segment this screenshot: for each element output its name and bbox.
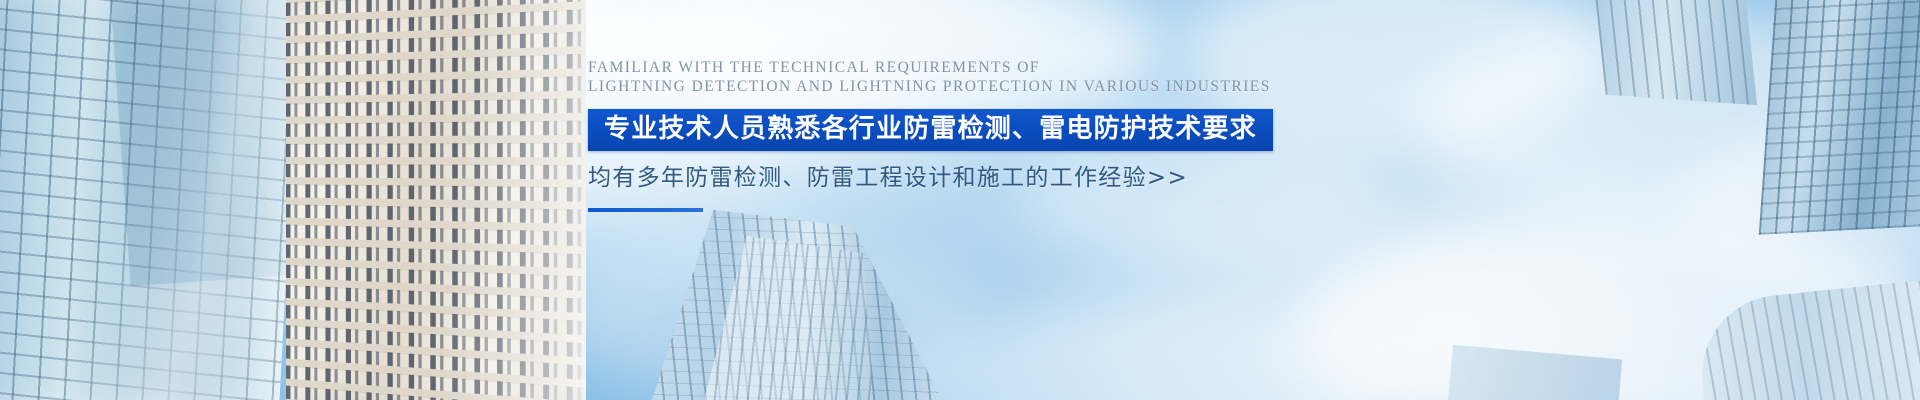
subtitle-text[interactable]: 均有多年防雷检测、防雷工程设计和施工的工作经验>> <box>588 164 1288 192</box>
headline-ribbon: 专业技术人员熟悉各行业防雷检测、雷电防护技术要求 <box>588 109 1273 151</box>
accent-underline <box>588 208 703 212</box>
hero-banner: FAMILIAR WITH THE TECHNICAL REQUIREMENTS… <box>0 0 1920 400</box>
english-tagline-line-2: LIGHTNING DETECTION AND LIGHTNING PROTEC… <box>588 77 1288 96</box>
english-tagline-line-1: FAMILIAR WITH THE TECHNICAL REQUIREMENTS… <box>588 58 1288 77</box>
banner-content: FAMILIAR WITH THE TECHNICAL REQUIREMENTS… <box>588 58 1288 212</box>
headline-text: 专业技术人员熟悉各行业防雷检测、雷电防护技术要求 <box>604 114 1257 144</box>
skyscraper-top-right-far <box>1593 0 1757 105</box>
skyscraper-top-right <box>1759 0 1920 235</box>
skyscraper-center-highlight <box>286 0 586 400</box>
